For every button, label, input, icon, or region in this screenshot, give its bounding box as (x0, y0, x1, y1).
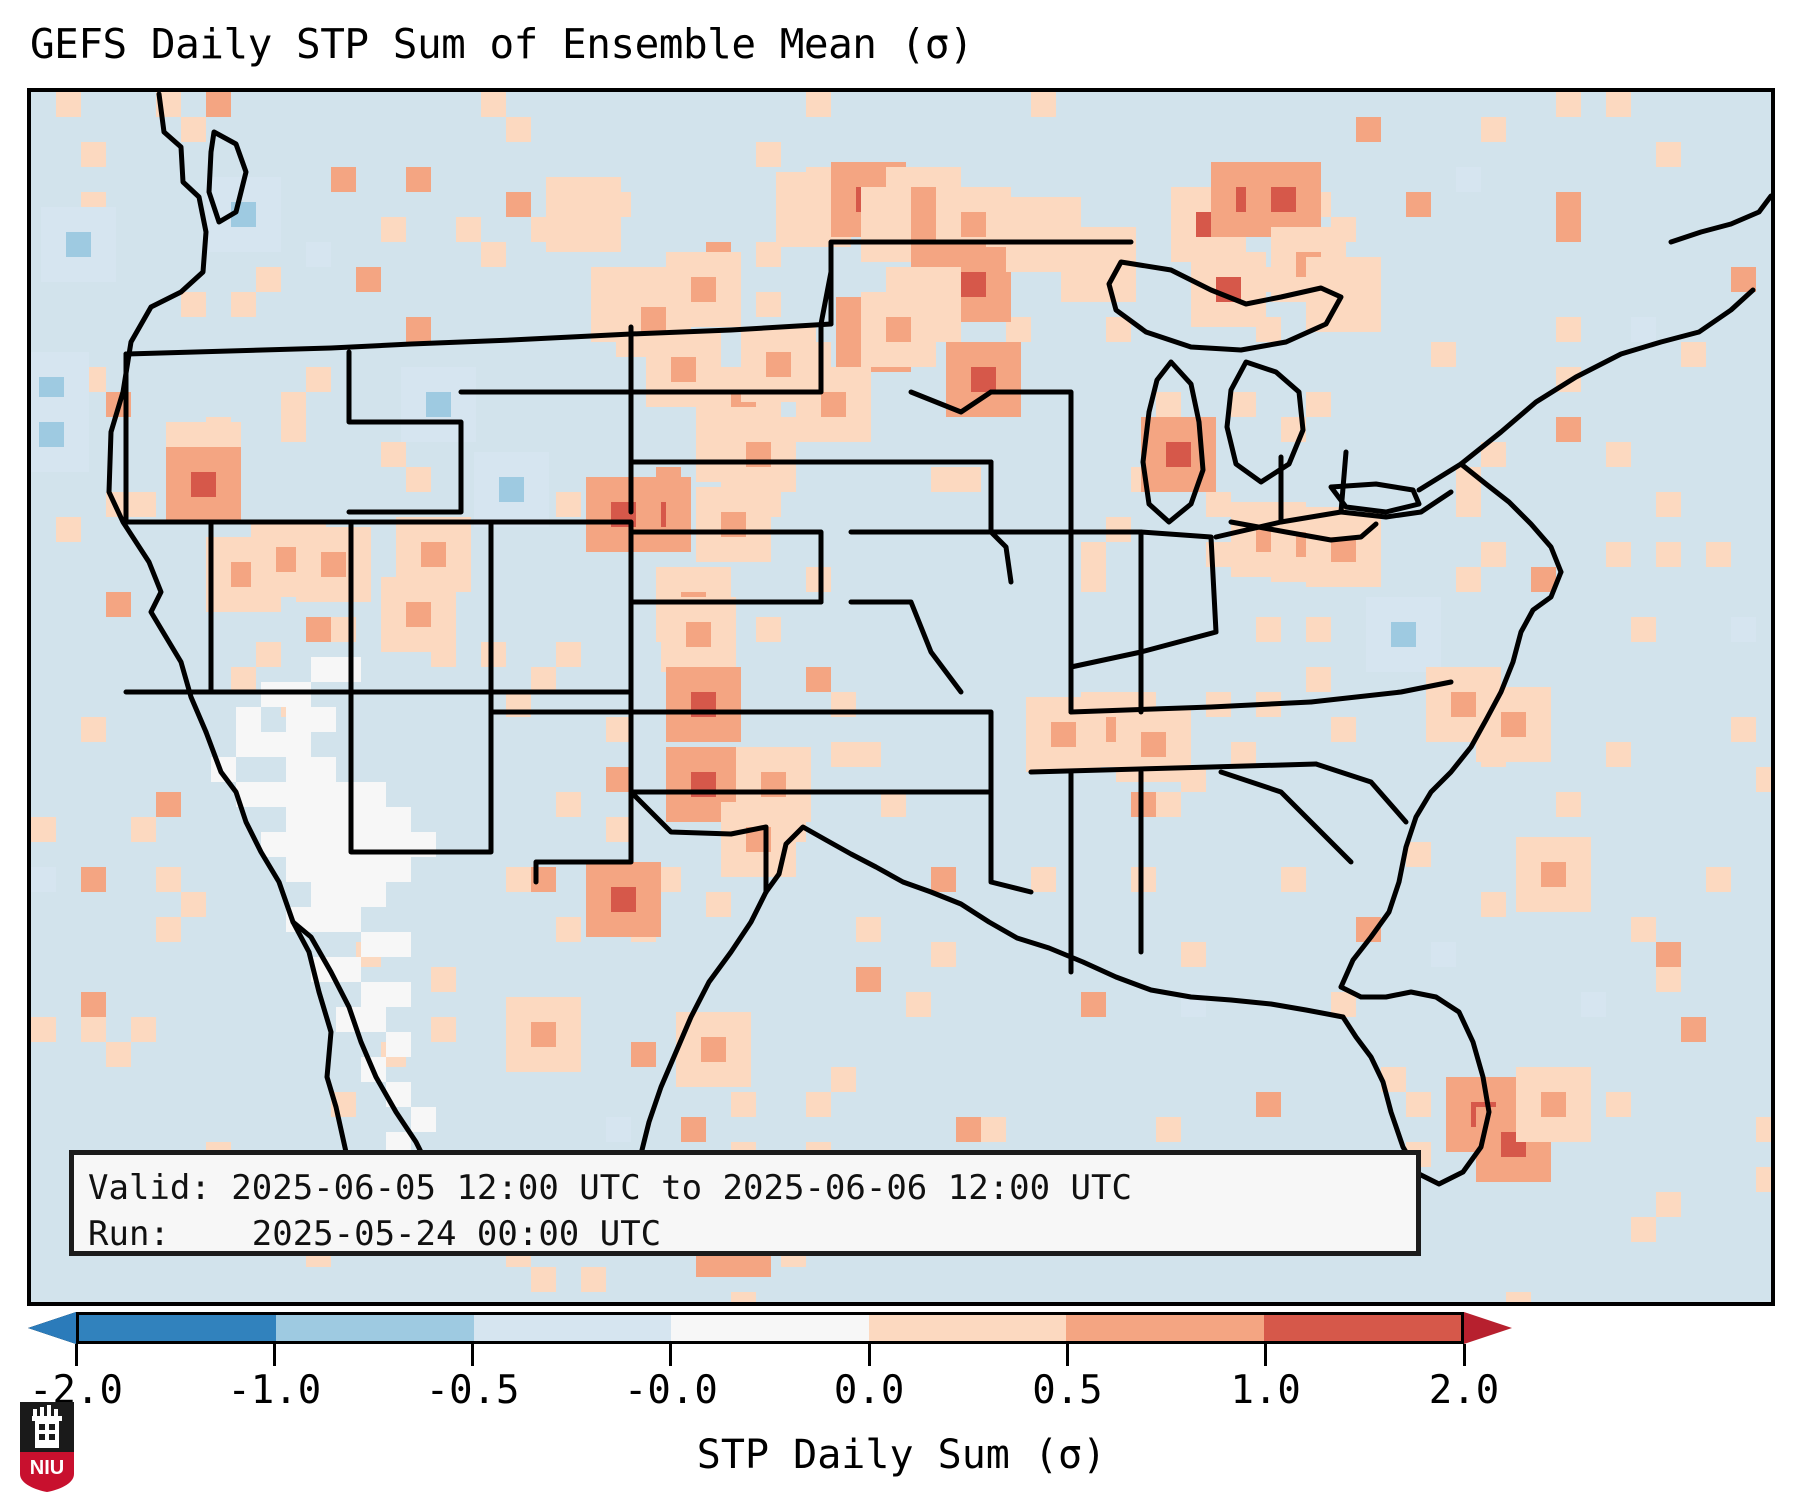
grid-cell (806, 567, 831, 592)
grid-cell (1481, 892, 1506, 917)
colorbar-band-2 (474, 1315, 671, 1341)
grid-cell (431, 1017, 456, 1042)
grid-cell (506, 692, 531, 717)
colorbar-band-6 (1264, 1315, 1461, 1341)
grid-cell (831, 742, 856, 767)
grid-cell (1156, 1117, 1181, 1142)
grid-cell-neutral (386, 807, 411, 832)
colorbar-tick-label-4: 0.0 (834, 1368, 904, 1413)
grid-cell (406, 317, 431, 342)
grid-cell-feature (406, 602, 431, 627)
grid-cell (581, 1267, 606, 1292)
grid-cell (1256, 1092, 1281, 1117)
grid-cell-neutral (261, 782, 286, 807)
grid-cell-neutral (386, 932, 411, 957)
grid-cell (31, 1017, 56, 1042)
grid-cell (756, 617, 781, 642)
grid-cell-neutral (286, 857, 311, 882)
colorbar-tick-label-6: 1.0 (1230, 1368, 1300, 1413)
grid-cell-neutral (286, 707, 311, 732)
grid-cell (1081, 542, 1106, 567)
grid-cell (906, 992, 931, 1017)
grid-cell-neutral (336, 857, 361, 882)
grid-cell (1631, 617, 1656, 642)
grid-cell (681, 1117, 706, 1142)
grid-cell-neutral (261, 732, 286, 757)
grid-cell (1481, 542, 1506, 567)
grid-cell (1556, 417, 1581, 442)
grid-cell (406, 467, 431, 492)
grid-cell (531, 1267, 556, 1292)
grid-cell-neutral (336, 882, 361, 907)
grid-cell-feature (1451, 692, 1476, 717)
grid-cell (1081, 567, 1106, 592)
grid-cell (1556, 317, 1581, 342)
grid-cell (831, 1067, 856, 1092)
grid-cell-feature (691, 772, 716, 797)
grid-cell-neutral (311, 807, 336, 832)
grid-cell (331, 617, 356, 642)
grid-cell (31, 817, 56, 842)
grid-cell-neutral (386, 982, 411, 1007)
grid-cell (381, 442, 406, 467)
grid-cell (1606, 742, 1631, 767)
grid-cell (1731, 267, 1756, 292)
colorbar-tick-6 (1264, 1344, 1267, 1366)
grid-cell-feature (191, 472, 216, 497)
grid-cell (1556, 367, 1581, 392)
grid-cell (431, 967, 456, 992)
grid-cell (1606, 92, 1631, 117)
grid-cell (331, 167, 356, 192)
grid-cell (31, 867, 56, 892)
grid-cell (1431, 342, 1456, 367)
grid-cell (1331, 992, 1356, 1017)
anomaly-grid-layer (31, 92, 1771, 1302)
grid-cell (1456, 167, 1481, 192)
colorbar-ticks (0, 1344, 1803, 1368)
grid-cell (81, 867, 106, 892)
grid-cell (1456, 567, 1481, 592)
colorbar-tick-1 (273, 1344, 276, 1366)
grid-cell-neutral (286, 757, 311, 782)
map-panel: Valid: 2025-06-05 12:00 UTC to 2025-06-0… (27, 88, 1775, 1306)
grid-cell-neutral (386, 1032, 411, 1057)
grid-cell (1356, 917, 1381, 942)
grid-cell (381, 217, 406, 242)
grid-cell (1756, 1167, 1771, 1192)
grid-cell-feature (761, 772, 786, 797)
colorbar-tick-2 (471, 1344, 474, 1366)
grid-cell-neutral (311, 757, 336, 782)
grid-cell-neutral (336, 1007, 361, 1032)
grid-cell (856, 742, 881, 767)
valid-run-infobox: Valid: 2025-06-05 12:00 UTC to 2025-06-0… (69, 1150, 1421, 1256)
colorbar-tick-0 (75, 1344, 78, 1366)
grid-cell (106, 392, 131, 417)
grid-cell (1256, 617, 1281, 642)
grid-cell-feature (1141, 732, 1166, 757)
grid-cell (331, 1092, 356, 1117)
grid-cell-neutral (236, 707, 261, 732)
grid-cell (1306, 617, 1331, 642)
grid-cell-neutral (361, 857, 386, 882)
colorbar[interactable] (76, 1312, 1464, 1344)
grid-cell (156, 792, 181, 817)
grid-cell (56, 517, 81, 542)
grid-cell-neutral (361, 982, 386, 1007)
grid-cell-neutral (211, 757, 236, 782)
grid-cell-neutral (361, 1007, 386, 1032)
grid-cell-neutral (311, 657, 336, 682)
grid-cell-feature (611, 502, 636, 527)
grid-cell (506, 117, 531, 142)
grid-cell (81, 992, 106, 1017)
grid-cell (206, 92, 231, 117)
grid-cell-neutral (286, 782, 311, 807)
grid-cell-feature (686, 622, 711, 647)
grid-cell-feature (641, 307, 666, 332)
grid-cell (1456, 492, 1481, 517)
grid-cell (131, 817, 156, 842)
colorbar-tick-label-2: -0.5 (426, 1368, 520, 1413)
grid-cell (181, 117, 206, 142)
grid-cell (181, 892, 206, 917)
colorbar-band-5 (1066, 1315, 1263, 1341)
grid-cell-feature (1331, 537, 1356, 562)
grid-cell-neutral (386, 832, 411, 857)
grid-cell (1681, 342, 1706, 367)
grid-cell (1306, 392, 1331, 417)
grid-cell (1106, 517, 1131, 542)
grid-cell (1581, 992, 1606, 1017)
grid-cell (256, 267, 281, 292)
grid-cell-feature (801, 197, 826, 222)
grid-cell-feature (691, 692, 716, 717)
grid-cell (1231, 392, 1256, 417)
grid-cell (531, 667, 556, 692)
grid-cell (956, 467, 981, 492)
grid-cell (1306, 667, 1331, 692)
grid-cell-neutral (361, 882, 386, 907)
grid-cell-feature (971, 367, 996, 392)
grid-cell-neutral (336, 782, 361, 807)
grid-cell (806, 1092, 831, 1117)
grid-cell (1081, 992, 1106, 1017)
grid-cell (356, 267, 381, 292)
grid-cell (1556, 217, 1581, 242)
grid-cell (1731, 617, 1756, 642)
logo-tower-icon (32, 1405, 62, 1448)
grid-cell (106, 1042, 131, 1067)
grid-cell (1656, 492, 1681, 517)
grid-cell (606, 1117, 631, 1142)
grid-cell (81, 717, 106, 742)
colorbar-tick-5 (1066, 1344, 1069, 1366)
grid-cell (956, 1117, 981, 1142)
grid-cell (1481, 117, 1506, 142)
grid-cell-neutral (286, 907, 311, 932)
grid-cell (1631, 917, 1656, 942)
grid-cell (1406, 842, 1431, 867)
grid-cell-neutral (261, 682, 286, 707)
grid-cell (1031, 867, 1056, 892)
grid-cell (231, 292, 256, 317)
grid-cell (1606, 442, 1631, 467)
grid-cell (856, 917, 881, 942)
grid-cell (306, 367, 331, 392)
grid-cell-feature (766, 352, 791, 377)
grid-cell-neutral (361, 782, 386, 807)
grid-cell (1656, 142, 1681, 167)
grid-cell-feature (426, 392, 451, 417)
colorbar-tick-label-1: -1.0 (227, 1368, 321, 1413)
grid-cell-feature (531, 1022, 556, 1047)
grid-cell (1706, 867, 1731, 892)
grid-cell-neutral (386, 1082, 411, 1107)
grid-cell (256, 642, 281, 667)
grid-cell-feature (231, 202, 256, 227)
grid-cell-neutral (336, 832, 361, 857)
grid-cell (1706, 542, 1731, 567)
grid-cell-feature (571, 202, 596, 227)
grid-cell (1656, 542, 1681, 567)
grid-cell-neutral (336, 907, 361, 932)
grid-cell-feature (721, 512, 746, 537)
grid-cell-feature (1216, 277, 1241, 302)
colorbar-under-arrow (28, 1312, 76, 1344)
grid-cell-neutral (236, 732, 261, 757)
grid-cell-neutral (336, 957, 361, 982)
grid-cell (131, 492, 156, 517)
grid-cell-neutral (286, 682, 311, 707)
grid-cell (106, 492, 131, 517)
grid-cell-neutral (311, 882, 336, 907)
grid-cell-neutral (361, 1057, 386, 1082)
grid-cell-feature (611, 887, 636, 912)
grid-cell-feature (1391, 622, 1416, 647)
grid-cell-feature (1541, 1092, 1566, 1117)
grid-cell (1156, 392, 1181, 417)
grid-cell (306, 242, 331, 267)
grid-cell-feature (886, 317, 911, 342)
grid-cell (81, 1017, 106, 1042)
grid-cell (1656, 1192, 1681, 1217)
grid-cell-feature (1051, 722, 1076, 747)
grid-cell (606, 767, 631, 792)
grid-cell-feature (746, 827, 771, 852)
grid-cell (281, 417, 306, 442)
grid-cell (1556, 192, 1581, 217)
grid-cell (1756, 767, 1771, 792)
grid-cell (1606, 1092, 1631, 1117)
grid-cell (456, 217, 481, 242)
grid-cell-feature (1331, 282, 1356, 307)
grid-cell-neutral (311, 782, 336, 807)
grid-cell (1031, 92, 1056, 117)
grid-cell (1406, 1092, 1431, 1117)
grid-cell-feature (691, 277, 716, 302)
grid-cell (556, 642, 581, 667)
colorbar-band-0 (79, 1315, 276, 1341)
grid-cell (931, 942, 956, 967)
grid-cell (1281, 867, 1306, 892)
grid-cell-feature (321, 552, 346, 577)
grid-cell-neutral (361, 807, 386, 832)
grid-cell-neutral (311, 957, 336, 982)
grid-cell (181, 292, 206, 317)
grid-cell (531, 867, 556, 892)
grid-cell (1631, 317, 1656, 342)
grid-cell (506, 867, 531, 892)
grid-cell (1131, 792, 1156, 817)
grid-cell (556, 492, 581, 517)
grid-cell-neutral (361, 932, 386, 957)
grid-cell (1281, 417, 1306, 442)
colorbar-tick-labels: -2.0-1.0-0.5-0.00.00.51.02.0 (0, 1368, 1803, 1414)
grid-cell (556, 917, 581, 942)
grid-cell-feature (66, 232, 91, 257)
grid-cell (1606, 542, 1631, 567)
grid-cell (506, 192, 531, 217)
grid-cell (881, 792, 906, 817)
grid-cell (131, 1017, 156, 1042)
grid-cell (81, 142, 106, 167)
grid-cell (1206, 692, 1231, 717)
grid-cell (156, 917, 181, 942)
grid-cell (1556, 92, 1581, 117)
grid-cell-neutral (336, 657, 361, 682)
grid-cell (1256, 692, 1281, 717)
page-title: GEFS Daily STP Sum of Ensemble Mean (σ) (30, 20, 1770, 76)
grid-cell (1381, 1067, 1406, 1092)
run-time-line: Run: 2025-05-24 00:00 UTC (88, 1211, 1402, 1257)
grid-cell-neutral (236, 782, 261, 807)
grid-cell (1106, 317, 1131, 342)
grid-cell-neutral (411, 832, 436, 857)
grid-cell (931, 867, 956, 892)
grid-cell-neutral (286, 732, 311, 757)
grid-cell-feature (1031, 222, 1056, 247)
grid-cell (306, 617, 331, 642)
grid-cell (606, 817, 631, 842)
grid-cell (106, 592, 131, 617)
grid-cell (1231, 742, 1256, 767)
colorbar-band-3 (671, 1315, 868, 1341)
grid-cell (1206, 542, 1231, 567)
grid-cell (1656, 967, 1681, 992)
grid-cell-neutral (386, 857, 411, 882)
grid-cell (156, 867, 181, 892)
grid-cell (706, 892, 731, 917)
logo-text: NIU (30, 1457, 64, 1479)
grid-cell-neutral (286, 807, 311, 832)
grid-cell (406, 167, 431, 192)
grid-cell (481, 642, 506, 667)
grid-cell-neutral (311, 832, 336, 857)
colorbar-tick-7 (1463, 1344, 1466, 1366)
grid-cell (731, 1092, 756, 1117)
grid-cell (981, 1117, 1006, 1142)
grid-cell (1506, 1292, 1531, 1302)
grid-cell-feature (671, 357, 696, 382)
grid-cell-feature (701, 1037, 726, 1062)
grid-cell (806, 92, 831, 117)
grid-cell (156, 92, 181, 117)
grid-cell (631, 1042, 656, 1067)
grid-cell-neutral (411, 1107, 436, 1132)
grid-cell-feature (961, 212, 986, 237)
grid-cell (231, 667, 256, 692)
colorbar-tick-label-7: 2.0 (1429, 1368, 1499, 1413)
grid-cell (1356, 117, 1381, 142)
grid-cell (1556, 792, 1581, 817)
grid-cell (756, 292, 781, 317)
grid-cell-neutral (336, 807, 361, 832)
colorbar-over-arrow (1464, 1312, 1512, 1344)
grid-cell (1331, 717, 1356, 742)
colorbar-tick-label-5: 0.5 (1032, 1368, 1102, 1413)
grid-cell-feature (746, 442, 771, 467)
grid-cell-feature (421, 542, 446, 567)
grid-cell (56, 92, 81, 117)
grid-cell (1681, 1017, 1706, 1042)
map-canvas (31, 92, 1771, 1302)
grid-cell (1656, 942, 1681, 967)
grid-cell-neutral (361, 832, 386, 857)
grid-cell (1206, 492, 1231, 517)
grid-cell (281, 392, 306, 417)
niu-logo: NIU (16, 1400, 78, 1492)
grid-cell (856, 967, 881, 992)
grid-cell-feature (961, 272, 986, 297)
grid-cell (1431, 942, 1456, 967)
grid-cell-feature (1501, 712, 1526, 737)
grid-cell (931, 467, 956, 492)
grid-cell-neutral (261, 832, 286, 857)
grid-cell-feature (499, 477, 524, 502)
grid-cell (481, 92, 506, 117)
grid-cell-feature (1541, 862, 1566, 887)
grid-cell (731, 1292, 756, 1302)
grid-cell (1156, 792, 1181, 817)
grid-cell (481, 242, 506, 267)
grid-cell (1181, 992, 1206, 1017)
grid-cell (1631, 1217, 1656, 1242)
colorbar-band-4 (869, 1315, 1066, 1341)
colorbar-tick-4 (868, 1344, 871, 1366)
grid-cell-neutral (311, 857, 336, 882)
grid-cell (606, 717, 631, 742)
grid-cell-neutral (286, 832, 311, 857)
grid-cell (1531, 567, 1556, 592)
grid-cell-feature (1166, 442, 1191, 467)
colorbar-tick-3 (669, 1344, 672, 1366)
grid-cell (831, 692, 856, 717)
grid-cell (1731, 717, 1756, 742)
grid-cell (1756, 1117, 1771, 1142)
grid-cell (556, 792, 581, 817)
grid-cell-feature (1271, 187, 1296, 212)
colorbar-band-1 (276, 1315, 473, 1341)
grid-cell (756, 142, 781, 167)
grid-cell-feature (39, 422, 64, 447)
grid-cell-feature (1086, 252, 1111, 277)
grid-cell (1456, 467, 1481, 492)
grid-cell (1131, 867, 1156, 892)
grid-cell (1181, 942, 1206, 967)
grid-cell (806, 667, 831, 692)
